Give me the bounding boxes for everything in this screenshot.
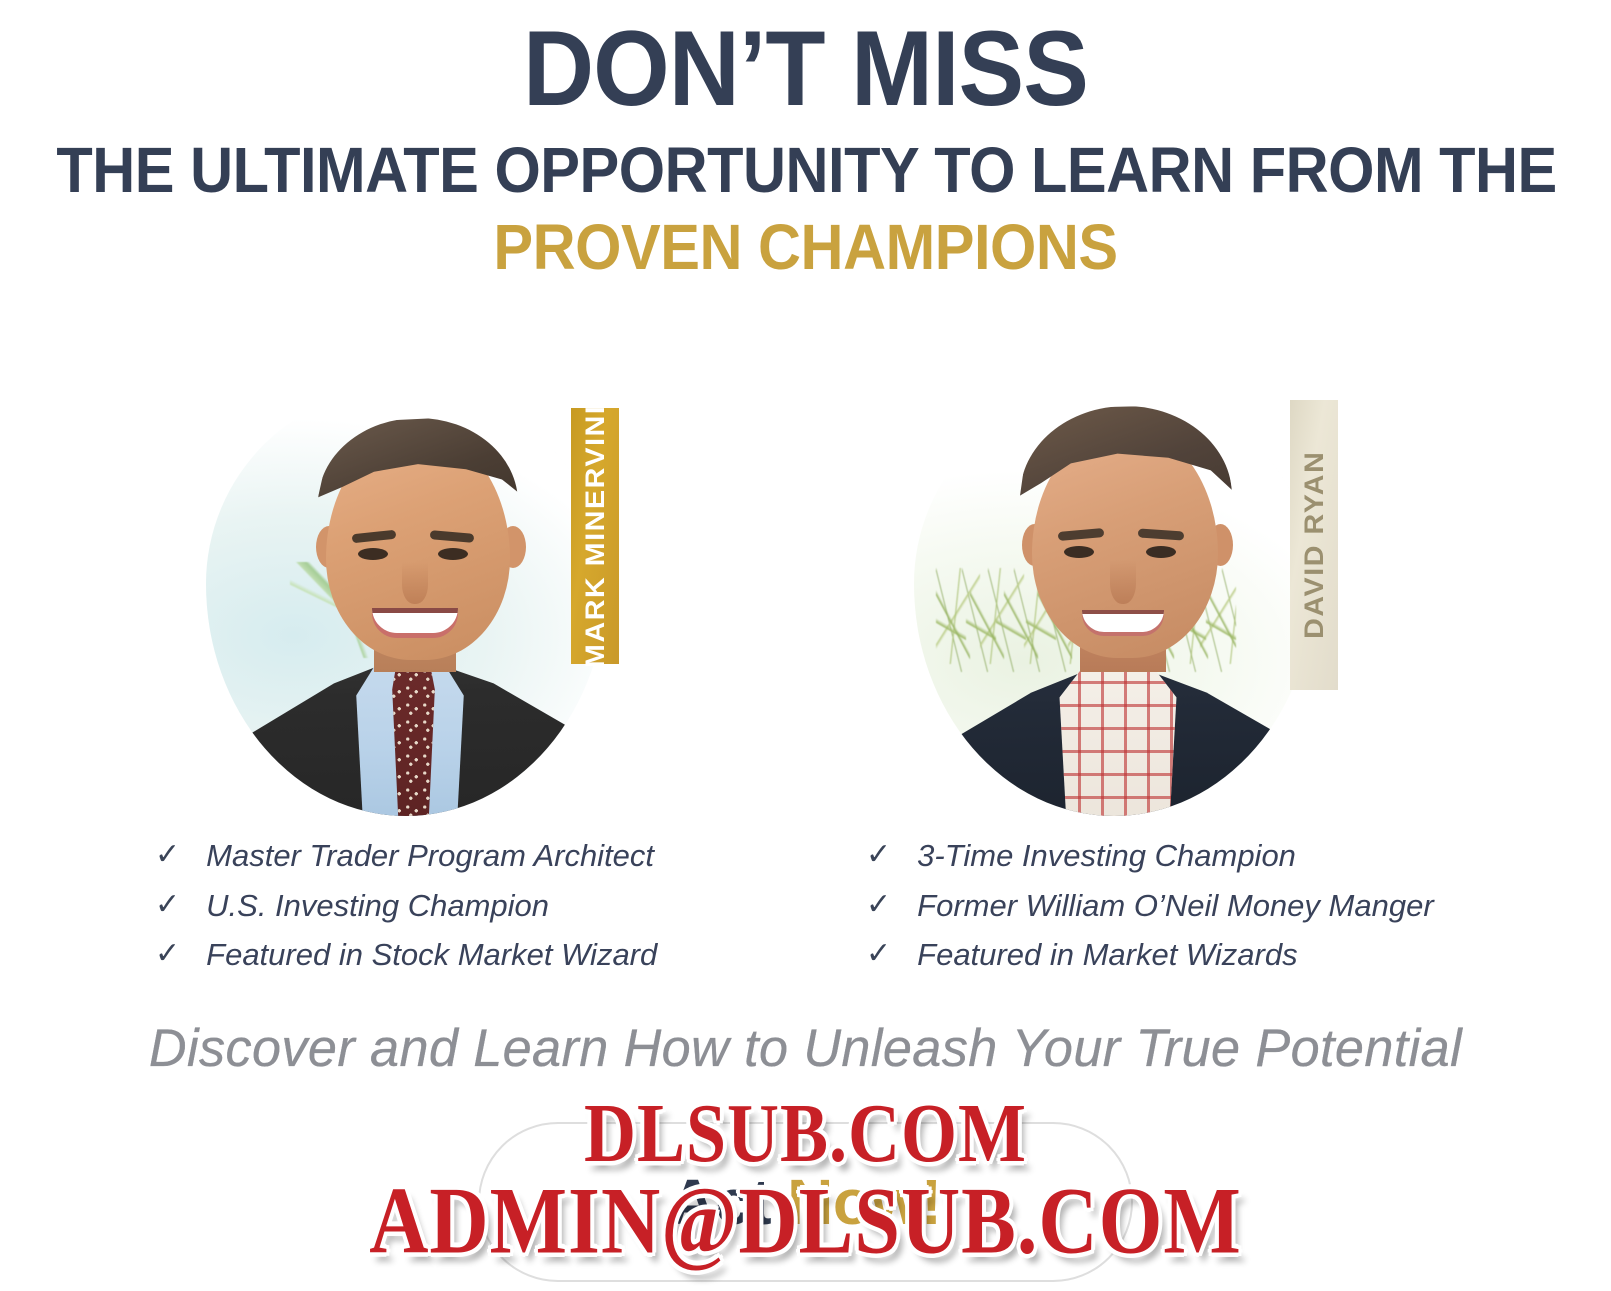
credential-item: ✓ Featured in Stock Market Wizard (155, 937, 657, 973)
credential-item: ✓ Master Trader Program Architect (155, 838, 657, 874)
nose (1110, 560, 1136, 604)
credentials-list-mark-minervini: ✓ Master Trader Program Architect ✓ U.S.… (155, 838, 657, 973)
speaker-card-mark-minervini: MARK MINERVINI (0, 368, 805, 828)
headline-primary: DON’T MISS (64, 14, 1546, 123)
check-icon: ✓ (866, 939, 891, 969)
credential-label: Master Trader Program Architect (206, 838, 654, 874)
speakers-row: MARK MINERVINI (0, 368, 1611, 828)
check-icon: ✓ (155, 890, 180, 920)
check-icon: ✓ (155, 939, 180, 969)
name-banner-mark-minervini: MARK MINERVINI (571, 408, 619, 664)
eye-right (438, 548, 468, 560)
eye-left (358, 548, 388, 560)
watermark-email: ADMIN@DLSUB.COM (0, 1166, 1611, 1275)
portrait-wrap-david-ryan: DAVID RYAN (914, 386, 1314, 816)
check-icon: ✓ (866, 890, 891, 920)
check-icon: ✓ (866, 840, 891, 870)
credentials-list-david-ryan: ✓ 3-Time Investing Champion ✓ Former Wil… (866, 838, 1434, 973)
name-banner-david-ryan: DAVID RYAN (1290, 400, 1338, 690)
credential-item: ✓ Featured in Market Wizards (866, 937, 1434, 973)
eye-left (1064, 546, 1094, 558)
credential-label: Former William O’Neil Money Manger (917, 888, 1434, 924)
credential-item: ✓ Former William O’Neil Money Manger (866, 888, 1434, 924)
credential-item: ✓ 3-Time Investing Champion (866, 838, 1434, 874)
mouth (1082, 610, 1164, 636)
name-banner-label: MARK MINERVINI (580, 404, 611, 667)
nose (402, 562, 428, 604)
speaker-photo-david-ryan (914, 386, 1314, 816)
tagline: Discover and Learn How to Unleash Your T… (12, 1018, 1599, 1079)
headline-block: DON’T MISS THE ULTIMATE OPPORTUNITY TO L… (0, 0, 1611, 282)
credential-item: ✓ U.S. Investing Champion (155, 888, 657, 924)
credential-label: Featured in Market Wizards (917, 937, 1297, 973)
headline-accent: PROVEN CHAMPIONS (56, 214, 1554, 281)
credential-label: Featured in Stock Market Wizard (206, 937, 657, 973)
eye-right (1146, 546, 1176, 558)
speaker-card-david-ryan: DAVID RYAN (805, 368, 1610, 828)
portrait-wrap-mark-minervini: MARK MINERVINI (206, 386, 606, 816)
credential-label: U.S. Investing Champion (206, 888, 549, 924)
headline-secondary: THE ULTIMATE OPPORTUNITY TO LEARN FROM T… (56, 137, 1554, 204)
check-icon: ✓ (155, 840, 180, 870)
speaker-photo-mark-minervini (206, 386, 606, 816)
credential-label: 3-Time Investing Champion (917, 838, 1296, 874)
name-banner-label: DAVID RYAN (1299, 451, 1330, 639)
